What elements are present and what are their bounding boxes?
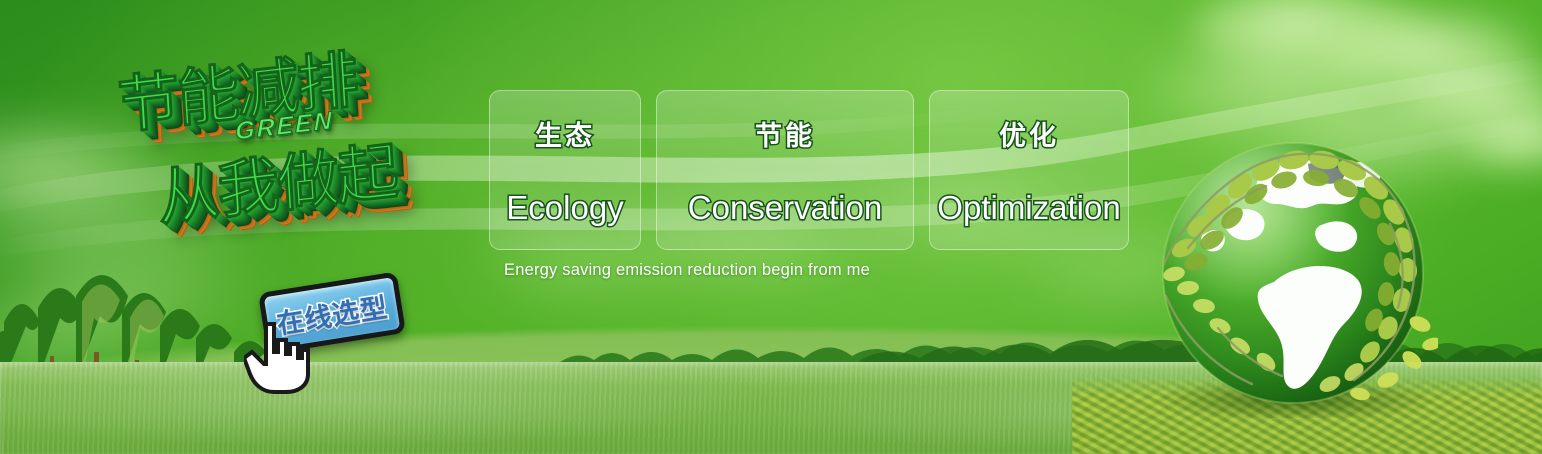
banner-tagline: Energy saving emission reduction begin f… <box>504 261 870 280</box>
feature-card-optimization-en: Optimization <box>937 189 1120 227</box>
leafy-green-globe-icon <box>1148 128 1438 418</box>
feature-card-conservation-cn: 节能 <box>755 114 815 153</box>
feature-card-ecology-cn: 生态 <box>535 114 595 153</box>
feature-card-ecology-en: Ecology <box>506 189 623 227</box>
feature-card-conservation-en: Conservation <box>688 189 882 227</box>
eco-promo-banner: 节能减排 GREEN 从我做起 在线选型 生态 Ecology 节能 Conse… <box>0 0 1542 454</box>
headline-3d-text: 节能减排 GREEN 从我做起 <box>95 38 495 268</box>
feature-card-conservation[interactable]: 节能 Conservation <box>656 90 914 250</box>
feature-card-optimization[interactable]: 优化 Optimization <box>929 90 1129 250</box>
feature-card-list: 生态 Ecology 节能 Conservation 优化 Optimizati… <box>489 90 1129 250</box>
feature-card-optimization-cn: 优化 <box>999 114 1059 153</box>
feature-card-ecology[interactable]: 生态 Ecology <box>489 90 641 250</box>
online-selection-button-label: 在线选型 <box>274 285 391 341</box>
headline-line-2: 从我做起 <box>155 120 399 237</box>
